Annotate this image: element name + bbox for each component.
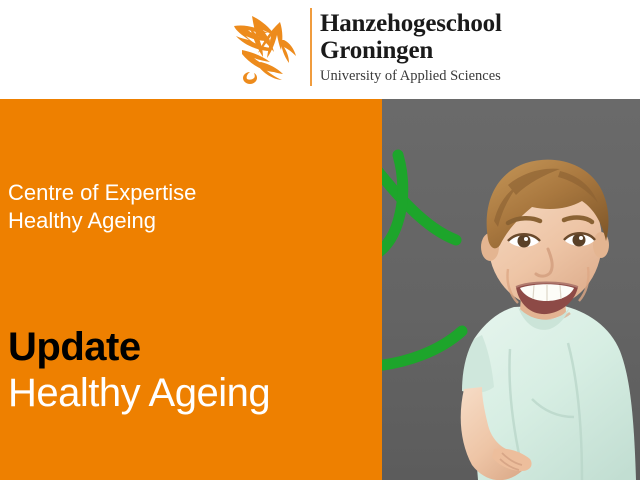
logo-wordmark: Hanzehogeschool Groningen University of … [320,6,560,84]
slide: Hanzehogeschool Groningen University of … [0,0,640,480]
page-title: Update [8,324,270,370]
hanze-flame-icon [228,10,306,86]
page-subtitle: Healthy Ageing [8,370,270,416]
boy-photo [382,99,640,480]
hanze-logo: Hanzehogeschool Groningen University of … [228,6,558,90]
logo-divider [310,8,312,86]
logo-tagline: University of Applied Sciences [320,63,560,84]
slide-header: Hanzehogeschool Groningen University of … [0,0,640,99]
photo-panel [382,99,640,480]
eyebrow-line-1: Centre of Expertise [8,179,196,207]
slide-title-block: Update Healthy Ageing [8,324,270,416]
logo-line-2: Groningen [320,36,560,63]
logo-line-1: Hanzehogeschool [320,6,560,36]
eyebrow-line-2: Healthy Ageing [8,207,196,235]
eyebrow-text: Centre of Expertise Healthy Ageing [8,179,196,235]
orange-content-panel: Centre of Expertise Healthy Ageing Updat… [0,99,382,480]
